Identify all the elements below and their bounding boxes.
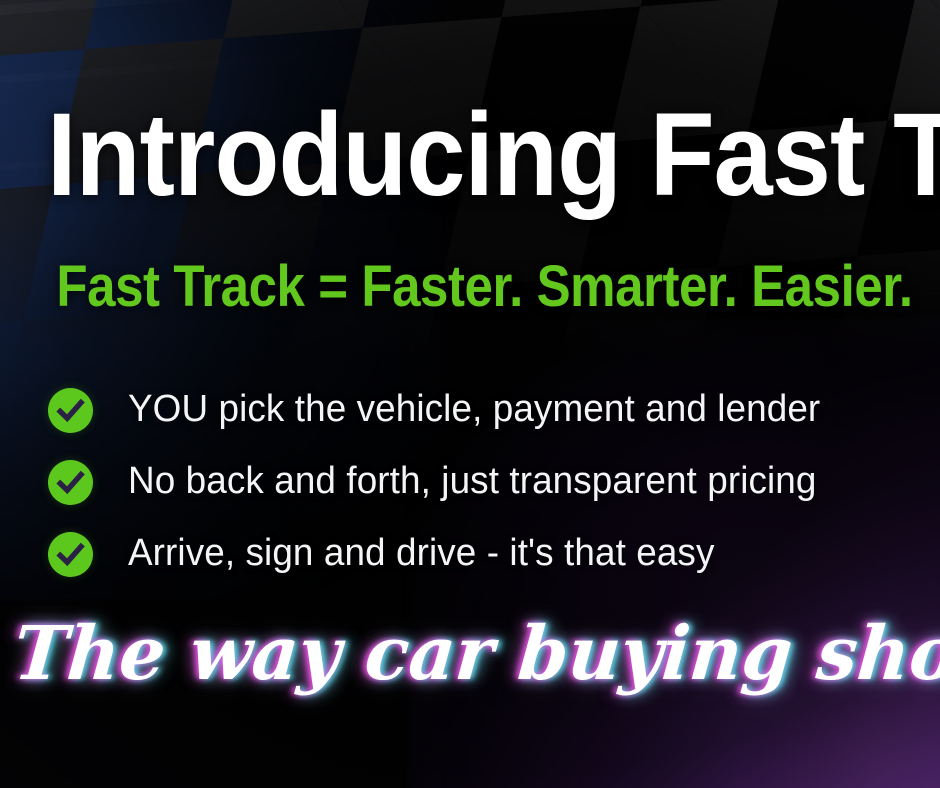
list-item-label: Arrive, sign and drive - it's that easy <box>128 534 715 574</box>
page-title: Introducing Fast Track <box>47 96 893 214</box>
check-circle-icon <box>48 460 93 505</box>
subtitle: Fast Track = Faster. Smarter. Easier. <box>56 258 883 316</box>
promo-poster: Introducing Fast Track Fast Track = Fast… <box>0 0 940 788</box>
list-item-label: YOU pick the vehicle, payment and lender <box>128 390 820 430</box>
check-circle-icon <box>48 388 93 433</box>
list-item: Arrive, sign and drive - it's that easy <box>48 518 898 590</box>
list-item: No back and forth, just transparent pric… <box>48 446 898 518</box>
benefits-list: YOU pick the vehicle, payment and lender… <box>48 374 898 590</box>
tagline: The way car buying should be. <box>10 612 929 697</box>
list-item: YOU pick the vehicle, payment and lender <box>48 374 898 446</box>
check-circle-icon <box>48 532 93 577</box>
poster-content: Introducing Fast Track Fast Track = Fast… <box>0 0 940 788</box>
list-item-label: No back and forth, just transparent pric… <box>128 462 817 502</box>
